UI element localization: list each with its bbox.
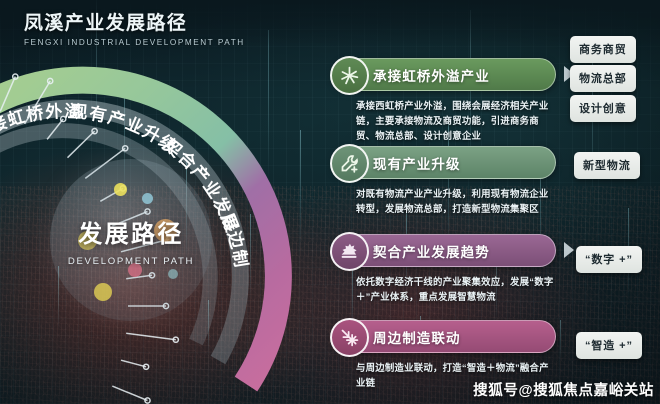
card-item[interactable]: 承接虹桥外溢产业 承接西虹桥产业外溢，围绕会展经济相关产业链，主要承接物流及商贸… bbox=[332, 58, 556, 144]
card-header[interactable]: 周边制造联动 bbox=[332, 320, 556, 353]
tag-item[interactable]: 新型物流 bbox=[574, 152, 640, 179]
card-title: 契合产业发展趋势 bbox=[373, 241, 490, 261]
card-header[interactable]: 承接虹桥外溢产业 bbox=[332, 58, 556, 91]
card-title: 周边制造联动 bbox=[373, 327, 461, 347]
rocket-icon bbox=[330, 232, 369, 271]
tag-item[interactable]: 设计创意 bbox=[570, 95, 636, 122]
arrow-spark-icon bbox=[330, 318, 369, 357]
arc-tick bbox=[126, 333, 176, 339]
arc-tick bbox=[112, 386, 147, 400]
burst-icon bbox=[330, 56, 369, 95]
card-title: 现有产业升级 bbox=[373, 153, 461, 173]
center-label: 发展路径 DEVELOPMENT PATH bbox=[50, 159, 212, 321]
arc-tick bbox=[121, 360, 146, 367]
tag-item[interactable]: “数字 +” bbox=[576, 246, 642, 273]
center-label-chinese: 发展路径 bbox=[78, 214, 184, 249]
card-header[interactable]: 契合产业发展趋势 bbox=[332, 234, 556, 267]
card-item[interactable]: 现有产业升级 对既有物流产业产业升级，利用现有物流企业转型，发展物流总部，打造新… bbox=[332, 146, 556, 216]
card-arrow-icon[interactable] bbox=[564, 242, 574, 258]
card-item[interactable]: 契合产业发展趋势 依托数字经济干线的产业聚集效应，发展“数字＋”产业体系，重点发… bbox=[332, 234, 556, 304]
center-label-english: DEVELOPMENT PATH bbox=[68, 256, 194, 267]
card-title: 承接虹桥外溢产业 bbox=[373, 65, 490, 85]
wrench-icon bbox=[330, 144, 369, 183]
card-description: 对既有物流产业产业升级，利用现有物流企业转型，发展物流总部，打造新型物流集聚区 bbox=[356, 186, 554, 216]
tag-item[interactable]: “智造 +” bbox=[576, 332, 642, 359]
tag-item[interactable]: 商务商贸 bbox=[570, 36, 636, 63]
watermark: 搜狐号@搜狐焦点嘉峪关站 bbox=[473, 379, 654, 400]
card-description: 承接西虹桥产业外溢，围绕会展经济相关产业链，主要承接物流及商贸功能，引进商务商贸… bbox=[356, 98, 554, 144]
card-header[interactable]: 现有产业升级 bbox=[332, 146, 556, 179]
tag-item[interactable]: 物流总部 bbox=[570, 65, 636, 92]
infographic-stage: 凤溪产业发展路径 FENGXI INDUSTRIAL DEVELOPMENT P… bbox=[0, 0, 660, 404]
card-description: 依托数字经济干线的产业聚集效应，发展“数字＋”产业体系，重点发展智慧物流 bbox=[356, 274, 554, 304]
